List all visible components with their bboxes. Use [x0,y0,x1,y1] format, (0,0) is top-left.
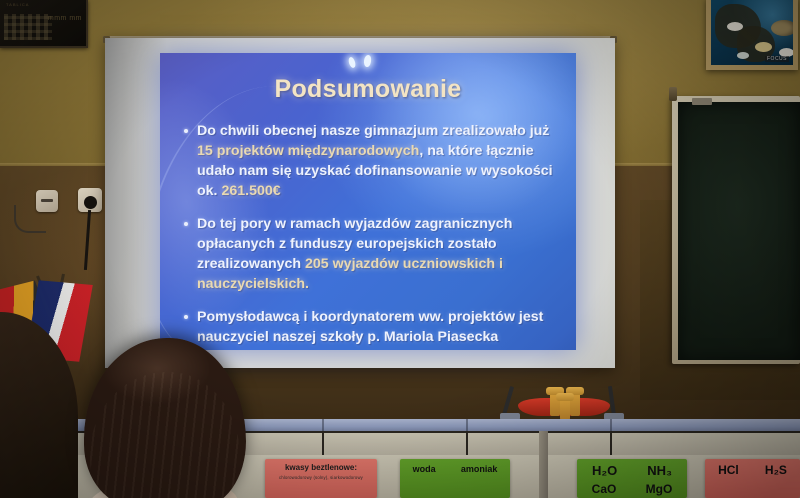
sign-kwasy-line1: kwasy beztlenowe: [265,463,377,472]
lab-rod-right [608,386,616,416]
bullet-dot-icon [184,222,188,226]
formula-h2s: H₂S [765,463,787,477]
outlet-socket [84,196,97,209]
sign-woda-label: woda [413,464,436,474]
chalkboard-clip [692,98,712,105]
fish-icon-2 [727,22,743,31]
audience-member-foreground [62,330,272,498]
presentation-slide: Podsumowanie Do chwili obecnej nasze gim… [160,53,576,350]
slide-title: Podsumowanie [160,75,576,104]
sign-hcl-h2s: HCl H₂S [705,459,800,498]
poster-dark-caption: mmm mm [48,14,82,24]
cabinet-divider [466,431,468,455]
sign-woda-amoniak-row: woda amoniak [400,459,510,478]
person-hair [84,338,246,498]
classroom-photo-scene: TABLICA mmm mm FOCUS Podsumowanie [0,0,800,498]
sign-woda-amoniak: woda amoniak [400,459,510,498]
lab-stand-3 [560,398,570,420]
lab-rod-left [502,386,514,416]
bullet-1-seg-1-highlight: 15 projektów międzynarodowych [197,143,419,159]
wall-column-divider [539,431,548,498]
power-outlet-right[interactable] [78,188,102,212]
green-chalkboard[interactable] [678,102,800,360]
chalkboard-frame [672,96,800,364]
sign-row2-a [426,483,428,492]
cabinet-divider [610,431,612,455]
poster-dark-header: TABLICA [6,2,29,7]
sign-hcl-h2s-row2 [705,481,800,497]
sign-h2o-nh3: H₂O NH₃ CaO MgO [577,459,687,498]
formula-hcl: HCl [718,463,739,477]
bullet-1-seg-3-highlight: 261.500€ [221,183,280,199]
formula-mgo: MgO [646,482,673,496]
bullet-1-seg-0: Do chwili obecnej nasze gimnazjum zreali… [197,123,549,139]
slide-bullet-1: Do chwili obecnej nasze gimnazjum zreali… [178,121,562,201]
sign-woda-amoniak-row2 [400,478,510,496]
cabinet-divider [322,431,324,455]
sign-h2o-nh3-row2: CaO MgO [577,481,687,497]
poster-dark-grid [4,14,52,40]
poster-underwater: FOCUS [706,0,798,70]
bullet-dot-icon [184,315,188,319]
formula-h2o: H₂O [592,463,617,478]
lab-apparatus [500,386,630,421]
formula-cao: CaO [592,482,617,496]
fish-icon-5 [737,52,749,59]
poster-dark-framed: TABLICA mmm mm [0,0,88,48]
formula-nh3: NH₃ [647,463,672,478]
sign-hcl-h2s-row1: HCl H₂S [705,459,800,481]
outlet-cable-left [14,205,46,233]
sign-kwasy-line2: chlorowodorowy (solny), siarkowodorowy [265,475,377,480]
chalkboard-mount [669,87,677,101]
fish-icon-3 [755,42,772,52]
slide-bullet-2: Do tej pory w ramach wyjazdów zagraniczn… [178,214,562,294]
bullet-dot-icon [184,129,188,133]
sign-h2o-nh3-row1: H₂O NH₃ [577,459,687,481]
projection-screen: Podsumowanie Do chwili obecnej nasze gim… [105,38,615,368]
sign-amoniak-label: amoniak [461,464,498,474]
fish-icon-1 [771,20,797,36]
outlet-slot [41,199,53,202]
slide-bullet-list: Do chwili obecnej nasze gimnazjum zreali… [178,121,562,350]
sign-row2-b [481,483,483,492]
poster-underwater-caption: FOCUS [765,56,789,62]
bullet-2-text: Do tej pory w ramach wyjazdów zagraniczn… [197,214,562,294]
sign-kwasy-beztlenowe: kwasy beztlenowe: chlorowodorowy (solny)… [265,459,377,498]
bullet-1-text: Do chwili obecnej nasze gimnazjum zreali… [197,121,562,201]
